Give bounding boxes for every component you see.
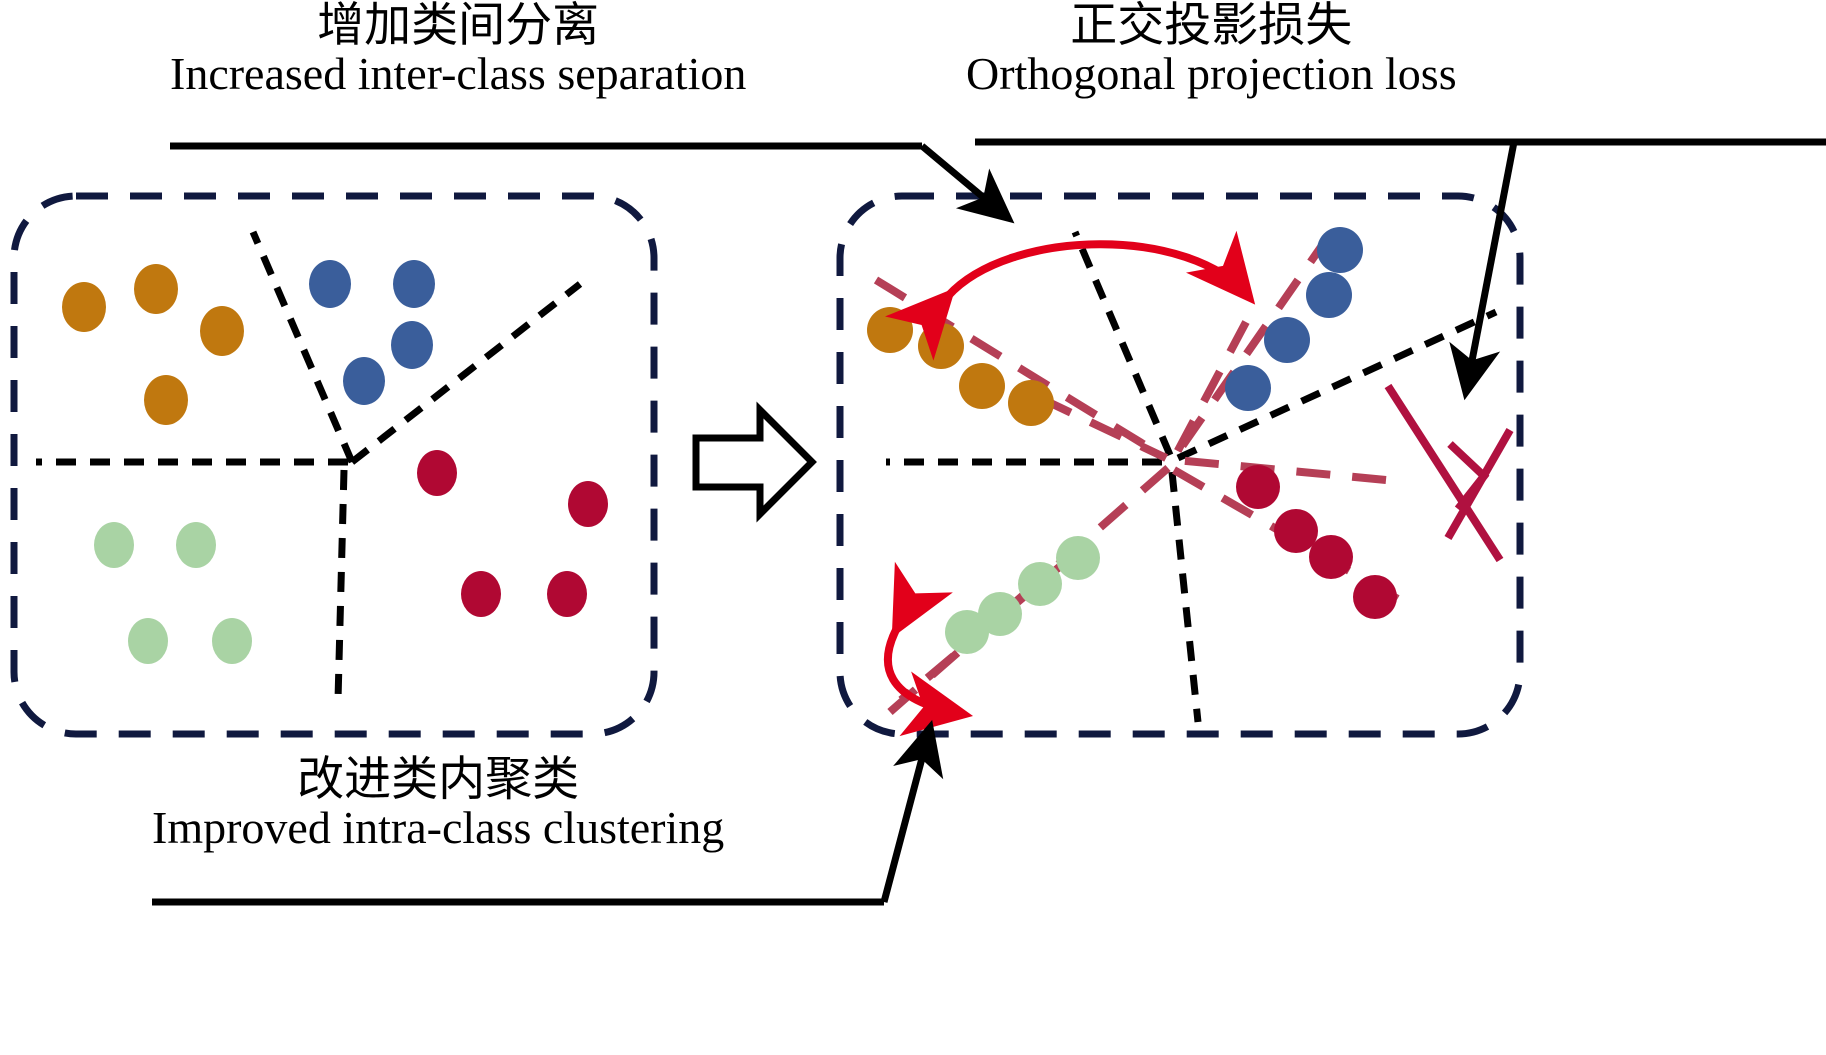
- boundary-left-upright: [352, 284, 580, 462]
- label-orthogonal-cn: 正交投影损失: [966, 2, 1457, 50]
- label-intra-class-cn: 改进类内聚类: [152, 756, 724, 804]
- leader-inter-class: [170, 146, 1008, 218]
- left-points-blue: [309, 260, 435, 405]
- label-orthogonal-projection-loss: 正交投影损失 Orthogonal projection loss: [966, 2, 1457, 98]
- cone-orange-upper: [876, 280, 1166, 458]
- diagram-svg: [0, 0, 1826, 1055]
- left-points-crimson: [417, 450, 608, 617]
- label-inter-class-cn: 增加类间分离: [170, 2, 746, 50]
- left-points-green: [94, 522, 252, 664]
- label-intra-class-clustering: 改进类内聚类 Improved intra-class clustering: [152, 756, 724, 852]
- right-points-green: [945, 536, 1100, 654]
- right-points-crimson: [1236, 465, 1397, 619]
- cone-crimson-upper: [1176, 460, 1386, 480]
- boundary-right-up: [1075, 232, 1170, 455]
- orthogonality-right-angle-marker: [1388, 386, 1510, 560]
- transition-block-arrow-icon: [696, 410, 812, 514]
- label-inter-class-separation: 增加类间分离 Increased inter-class separation: [170, 2, 746, 98]
- label-orthogonal-en: Orthogonal projection loss: [966, 50, 1457, 98]
- left-panel-boundaries: [36, 232, 580, 700]
- figure-canvas: 增加类间分离 Increased inter-class separation …: [0, 0, 1826, 1055]
- right-angle-square: [1450, 444, 1484, 509]
- label-intra-class-en: Improved intra-class clustering: [152, 804, 724, 852]
- label-inter-class-en: Increased inter-class separation: [170, 50, 746, 98]
- boundary-right-down: [1172, 472, 1198, 722]
- boundary-left-down: [338, 470, 344, 700]
- left-points-orange: [62, 264, 244, 425]
- right-points-orange: [867, 307, 1054, 426]
